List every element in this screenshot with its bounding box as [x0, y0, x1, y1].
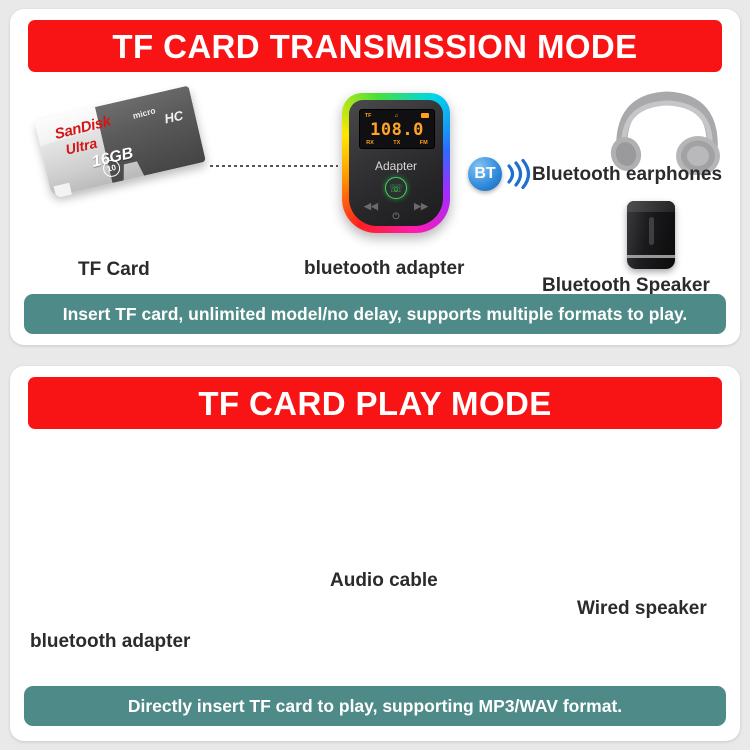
caption-transmission: Insert TF card, unlimited model/no delay… [24, 294, 726, 334]
call-button[interactable]: ☏ [385, 177, 407, 199]
bluetooth-badge: BT [468, 157, 531, 191]
banner-play-mode: TF CARD PLAY MODE [28, 377, 722, 429]
display-frequency-value: 108.0 [360, 120, 433, 140]
adapter-display-screen: TF ♫ 108.0 RX TX FM [359, 109, 434, 149]
bluetooth-headphones-image [602, 83, 732, 175]
signal-waves-icon [505, 159, 531, 189]
speaker-accent-ring [627, 255, 675, 258]
banner-play-title: TF CARD PLAY MODE [198, 387, 551, 420]
bt-icon: BT [468, 157, 502, 191]
display-tx-label: TX [393, 140, 400, 146]
dotted-connector-line [210, 165, 338, 167]
display-top-row: TF ♫ [365, 113, 430, 119]
label-bluetooth-adapter: bluetooth adapter [304, 259, 464, 278]
label-audio-cable: Audio cable [330, 571, 438, 590]
label-bluetooth-earphones: Bluetooth earphones [532, 165, 722, 184]
display-battery-icon [421, 113, 429, 118]
display-fm-label: FM [420, 140, 428, 146]
banner-transmission-mode: TF CARD TRANSMISSION MODE [28, 20, 722, 72]
power-button[interactable]: ⏻ [392, 211, 399, 222]
infographic-page: TF CARD TRANSMISSION MODE SanDisk Ultra … [0, 0, 750, 750]
panel-transmission-mode: TF CARD TRANSMISSION MODE SanDisk Ultra … [10, 9, 740, 345]
display-tf-indicator: TF [365, 113, 372, 119]
previous-track-button[interactable]: ◀◀ [364, 201, 378, 212]
caption-play-text: Directly insert TF card to play, support… [128, 696, 622, 717]
banner-transmission-title: TF CARD TRANSMISSION MODE [112, 30, 637, 63]
label-bluetooth-adapter-2: bluetooth adapter [30, 632, 190, 651]
speaker-top-cap [627, 201, 675, 212]
caption-play: Directly insert TF card to play, support… [24, 686, 726, 726]
label-bluetooth-speaker: Bluetooth Speaker [542, 276, 710, 295]
next-track-button[interactable]: ▶▶ [414, 201, 428, 212]
tf-card-image: SanDisk Ultra 16GB micro HC 10 [52, 101, 217, 226]
bluetooth-adapter-device-1: TF ♫ 108.0 RX TX FM Adapter ☏ ◀◀ ▶▶ ⏻ [342, 93, 450, 233]
display-music-icon: ♫ [394, 113, 398, 119]
sd-card-notch [54, 183, 72, 198]
panel-play-mode: TF CARD PLAY MODE TF ♫ 108.0 RX TX FM [10, 366, 740, 741]
speaker-light-strip [649, 217, 654, 245]
label-tf-card: TF Card [78, 260, 150, 279]
bluetooth-speaker-image [627, 201, 675, 269]
caption-transmission-text: Insert TF card, unlimited model/no delay… [63, 304, 688, 325]
sd-card-body: SanDisk Ultra 16GB micro HC 10 [34, 85, 205, 197]
display-bottom-row: RX TX FM [366, 140, 428, 146]
display-rx-label: RX [366, 140, 374, 146]
label-wired-speaker: Wired speaker [577, 599, 707, 618]
adapter-brand-text: Adapter [349, 159, 443, 173]
adapter-front-face: TF ♫ 108.0 RX TX FM Adapter ☏ ◀◀ ▶▶ ⏻ [349, 100, 443, 226]
